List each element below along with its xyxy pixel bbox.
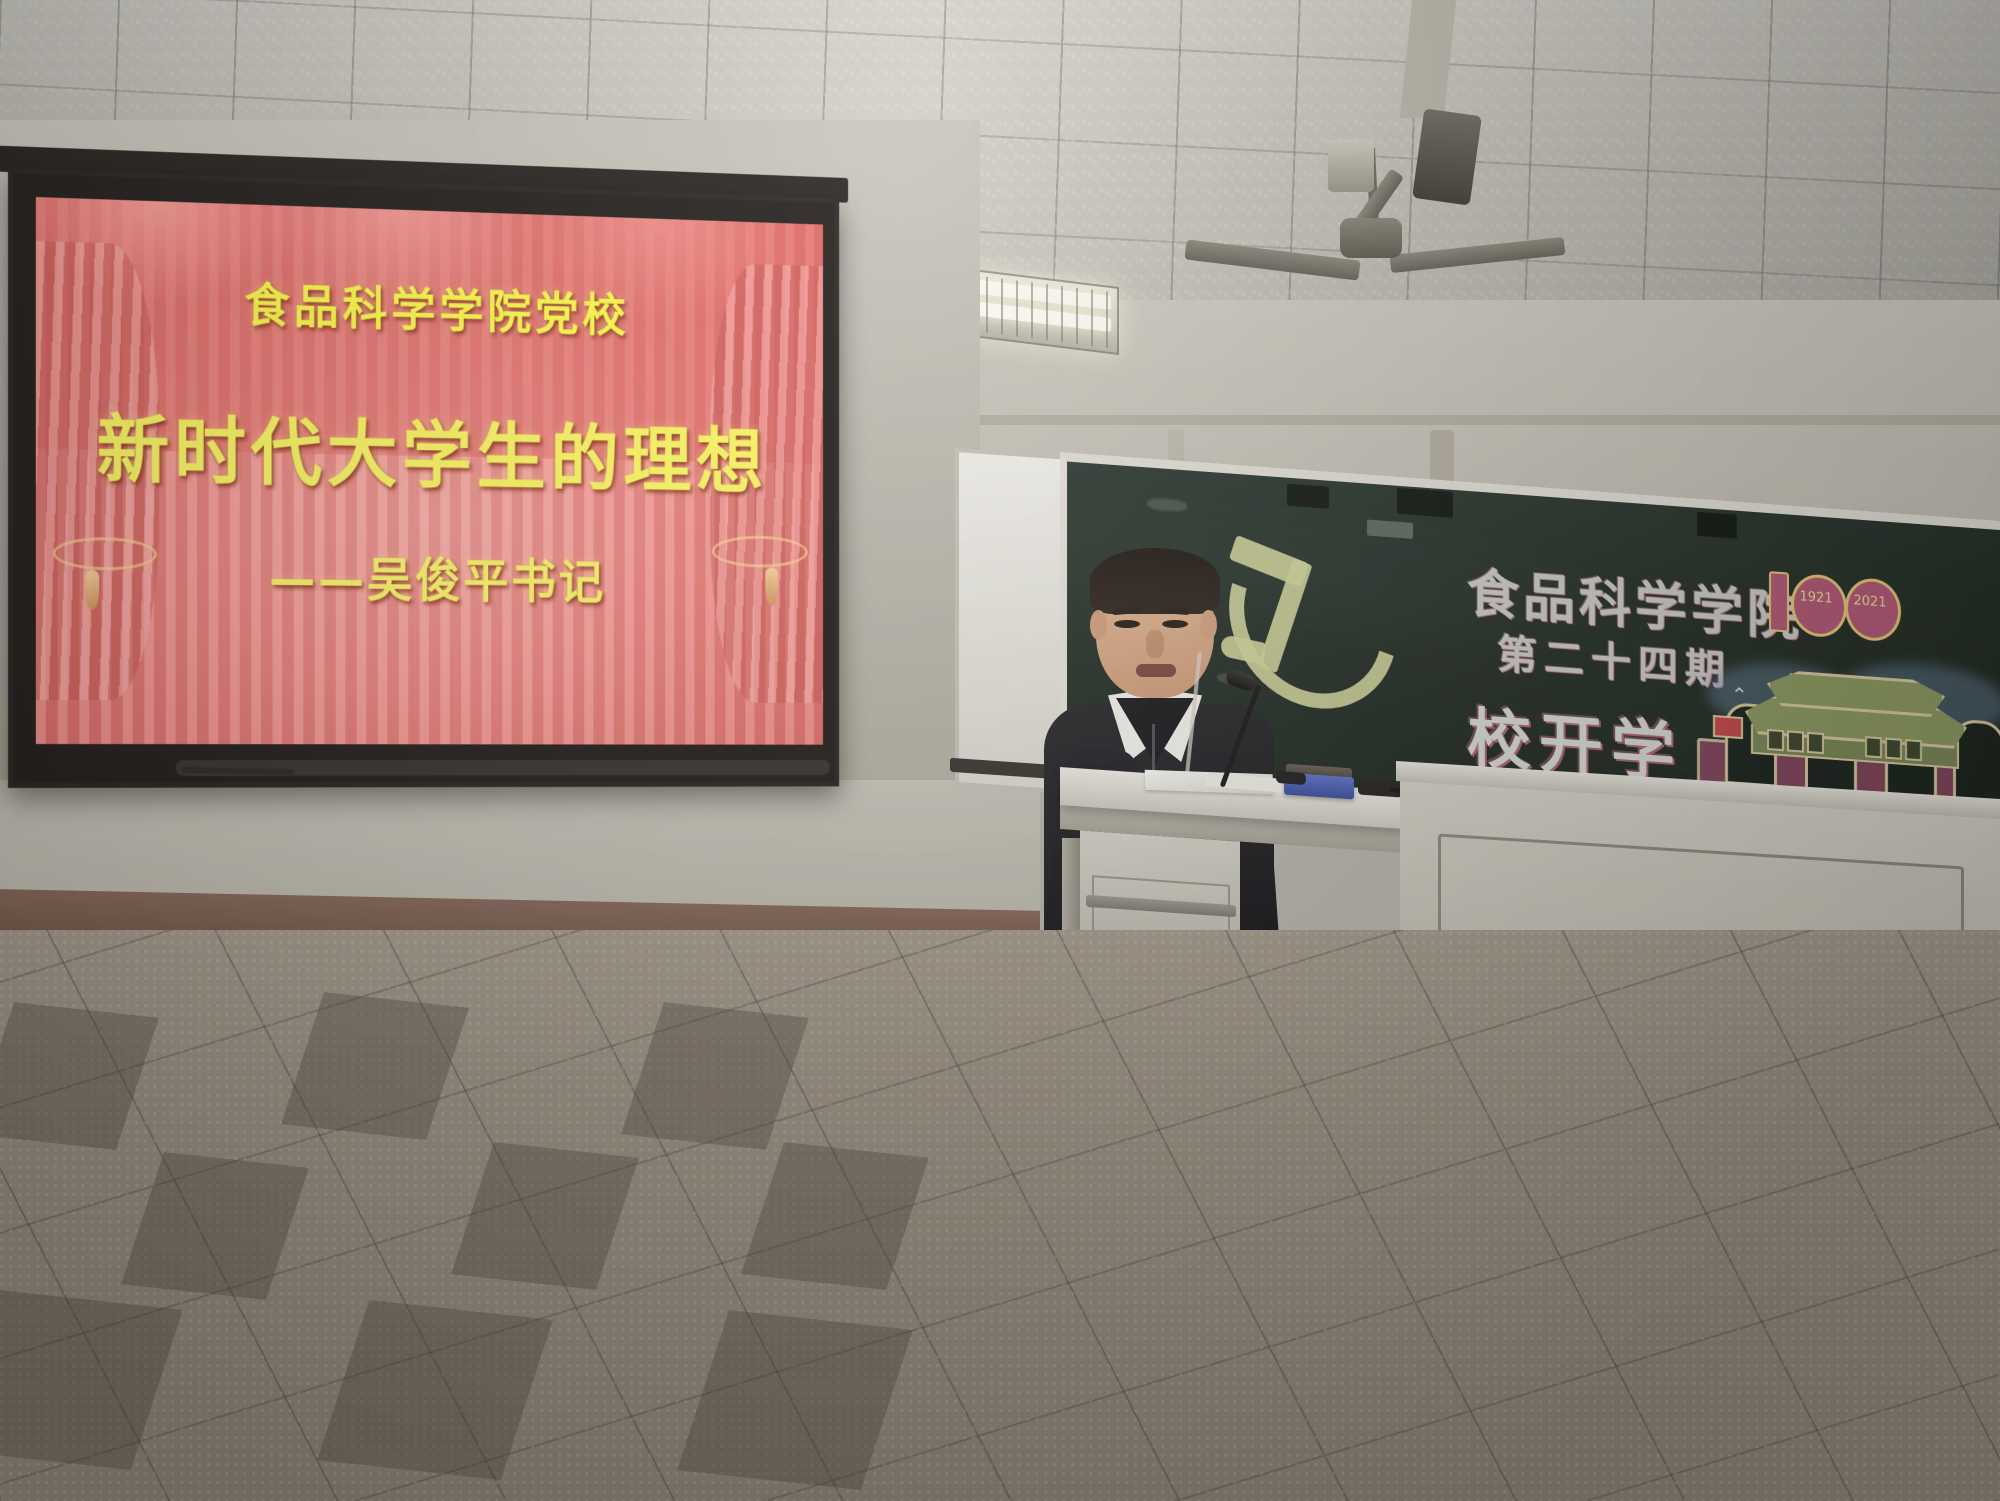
- classroom-photo-scene: 食品科学学院党校 新时代大学生的理想 ——吴俊平书记 食品科学学院 第二十四期 …: [0, 0, 2000, 1501]
- floor-lighting: [0, 0, 2000, 1501]
